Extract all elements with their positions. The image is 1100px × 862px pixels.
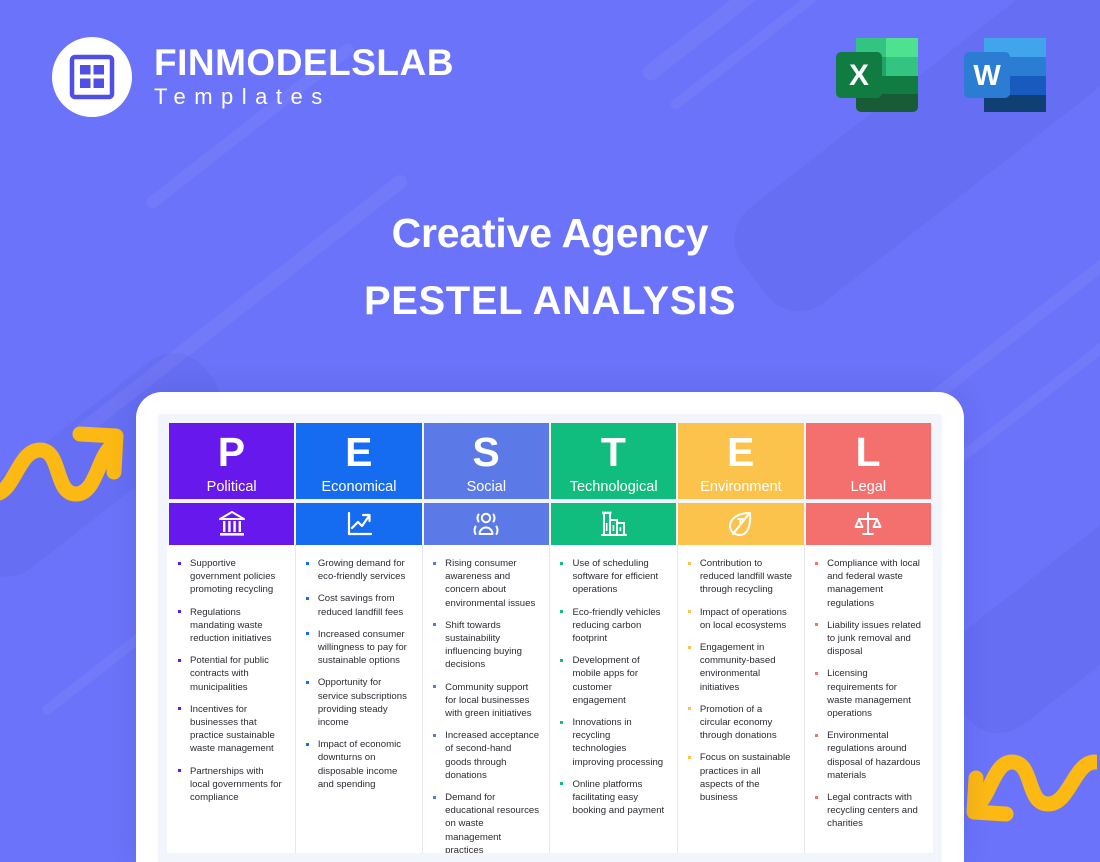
bullet-list-environment: Contribution to reduced landfill waste t… bbox=[686, 557, 794, 804]
brand-subtitle: Templates bbox=[154, 83, 454, 111]
pestel-category-name: Legal bbox=[806, 477, 931, 497]
list-item: Potential for public contracts with muni… bbox=[176, 654, 285, 694]
list-item: Liability issues related to junk removal… bbox=[813, 619, 922, 659]
list-item: Opportunity for service subscriptions pr… bbox=[304, 676, 412, 729]
page-title-block: Creative Agency PESTEL ANALYSIS bbox=[0, 203, 1100, 333]
list-item: Impact of economic downturns on disposab… bbox=[304, 738, 412, 791]
brand-name: FINMODELSLAB bbox=[154, 43, 454, 83]
pestel-body-cell-legal: Compliance with local and federal waste … bbox=[805, 545, 932, 862]
svg-text:X: X bbox=[849, 59, 869, 92]
pestel-body-cell-social: Rising consumer awareness and concern ab… bbox=[423, 545, 550, 862]
svg-text:W: W bbox=[973, 60, 1001, 92]
list-item: Increased acceptance of second-hand good… bbox=[431, 729, 539, 782]
list-item: Engagement in community-based environmen… bbox=[686, 641, 794, 694]
list-item: Contribution to reduced landfill waste t… bbox=[686, 557, 794, 597]
pestel-letter: E bbox=[678, 427, 803, 477]
factory-industry-icon bbox=[599, 515, 629, 532]
list-item: Innovations in recycling technologies im… bbox=[558, 716, 666, 769]
list-item: Demand for educational resources on wast… bbox=[431, 791, 539, 857]
list-item: Online platforms facilitating easy booki… bbox=[558, 778, 666, 818]
grid-squares-icon bbox=[52, 37, 132, 117]
list-item: Cost savings from reduced landfill fees bbox=[304, 592, 412, 618]
squiggly-arrow-down-left-icon bbox=[962, 742, 1097, 847]
bullet-list-economical: Growing demand for eco-friendly services… bbox=[304, 557, 412, 791]
list-item: Supportive government policies promoting… bbox=[176, 557, 285, 597]
pestel-sheet: P Political E Economical S Social T Tech… bbox=[167, 423, 933, 862]
bullet-list-political: Supportive government policies promoting… bbox=[176, 557, 285, 804]
pestel-icon-cell-economical bbox=[295, 501, 422, 545]
list-item: Development of mobile apps for customer … bbox=[558, 654, 666, 707]
page-title: Creative Agency bbox=[0, 203, 1100, 263]
list-item: Environmental regulations around disposa… bbox=[813, 729, 922, 782]
list-item: Shift towards sustainability influencing… bbox=[431, 619, 539, 672]
list-item: Regulations mandating waste reduction in… bbox=[176, 606, 285, 646]
pestel-body-cell-environment: Contribution to reduced landfill waste t… bbox=[677, 545, 804, 862]
pestel-category-name: Technological bbox=[551, 477, 676, 497]
bullet-list-technological: Use of scheduling software for efficient… bbox=[558, 557, 666, 817]
excel-icon: X bbox=[830, 28, 924, 122]
pestel-header-cell-technological[interactable]: T Technological bbox=[550, 423, 677, 501]
list-item: Growing demand for eco-friendly services bbox=[304, 557, 412, 583]
leaf-icon bbox=[726, 515, 756, 532]
tablet-device-frame: P Political E Economical S Social T Tech… bbox=[136, 392, 964, 862]
pestel-body-row: Supportive government policies promoting… bbox=[168, 545, 932, 862]
list-item: Impact of operations on local ecosystems bbox=[686, 606, 794, 632]
pestel-category-name: Social bbox=[424, 477, 549, 497]
bullet-list-social: Rising consumer awareness and concern ab… bbox=[431, 557, 539, 857]
pestel-letter: E bbox=[296, 427, 421, 477]
list-item: Legal contracts with recycling centers a… bbox=[813, 791, 922, 831]
pestel-category-name: Political bbox=[169, 477, 294, 497]
page-subtitle: PESTEL ANALYSIS bbox=[0, 269, 1100, 333]
list-item: Focus on sustainable practices in all as… bbox=[686, 751, 794, 804]
scales-of-justice-icon bbox=[853, 515, 883, 532]
bank-building-icon bbox=[217, 515, 247, 532]
pestel-header-cell-legal[interactable]: L Legal bbox=[805, 423, 932, 501]
list-item: Eco-friendly vehicles reducing carbon fo… bbox=[558, 606, 666, 646]
bullet-list-legal: Compliance with local and federal waste … bbox=[813, 557, 922, 831]
tablet-bottom-edge bbox=[158, 853, 942, 862]
pestel-header-cell-political[interactable]: P Political bbox=[168, 423, 295, 501]
pestel-icon-cell-environment bbox=[677, 501, 804, 545]
pestel-letter: T bbox=[551, 427, 676, 477]
list-item: Use of scheduling software for efficient… bbox=[558, 557, 666, 597]
pestel-icon-cell-legal bbox=[805, 501, 932, 545]
list-item: Partnerships with local governments for … bbox=[176, 765, 285, 805]
pestel-header-cell-environment[interactable]: E Environment bbox=[677, 423, 804, 501]
pestel-body-cell-economical: Growing demand for eco-friendly services… bbox=[295, 545, 422, 862]
page-header: FINMODELSLAB Templates X bbox=[0, 0, 1100, 150]
pestel-table: P Political E Economical S Social T Tech… bbox=[167, 423, 933, 862]
list-item: Promotion of a circular economy through … bbox=[686, 703, 794, 743]
pestel-icon-cell-political bbox=[168, 501, 295, 545]
tablet-screen: P Political E Economical S Social T Tech… bbox=[158, 414, 942, 862]
people-group-icon bbox=[471, 515, 501, 532]
pestel-icon-row bbox=[168, 501, 932, 545]
list-item: Licensing requirements for waste managem… bbox=[813, 667, 922, 720]
pestel-icon-cell-technological bbox=[550, 501, 677, 545]
pestel-letter: L bbox=[806, 427, 931, 477]
pestel-header-cell-social[interactable]: S Social bbox=[423, 423, 550, 501]
pestel-letter: S bbox=[424, 427, 549, 477]
pestel-category-name: Economical bbox=[296, 477, 421, 497]
squiggly-arrow-up-right-icon bbox=[0, 402, 127, 522]
word-icon: W bbox=[958, 28, 1052, 122]
pestel-icon-cell-social bbox=[423, 501, 550, 545]
list-item: Increased consumer willingness to pay fo… bbox=[304, 628, 412, 668]
list-item: Rising consumer awareness and concern ab… bbox=[431, 557, 539, 610]
pestel-header-row: P Political E Economical S Social T Tech… bbox=[168, 423, 932, 501]
pestel-letter: P bbox=[169, 427, 294, 477]
pestel-body-cell-technological: Use of scheduling software for efficient… bbox=[550, 545, 677, 862]
list-item: Incentives for businesses that practice … bbox=[176, 703, 285, 756]
list-item: Community support for local businesses w… bbox=[431, 681, 539, 721]
pestel-category-name: Environment bbox=[678, 477, 803, 497]
brand-logo: FINMODELSLAB Templates bbox=[52, 37, 454, 117]
pestel-header-cell-economical[interactable]: E Economical bbox=[295, 423, 422, 501]
office-format-icons: X W bbox=[830, 28, 1052, 122]
list-item: Compliance with local and federal waste … bbox=[813, 557, 922, 610]
pestel-body-cell-political: Supportive government policies promoting… bbox=[168, 545, 295, 862]
line-chart-icon bbox=[344, 515, 374, 532]
